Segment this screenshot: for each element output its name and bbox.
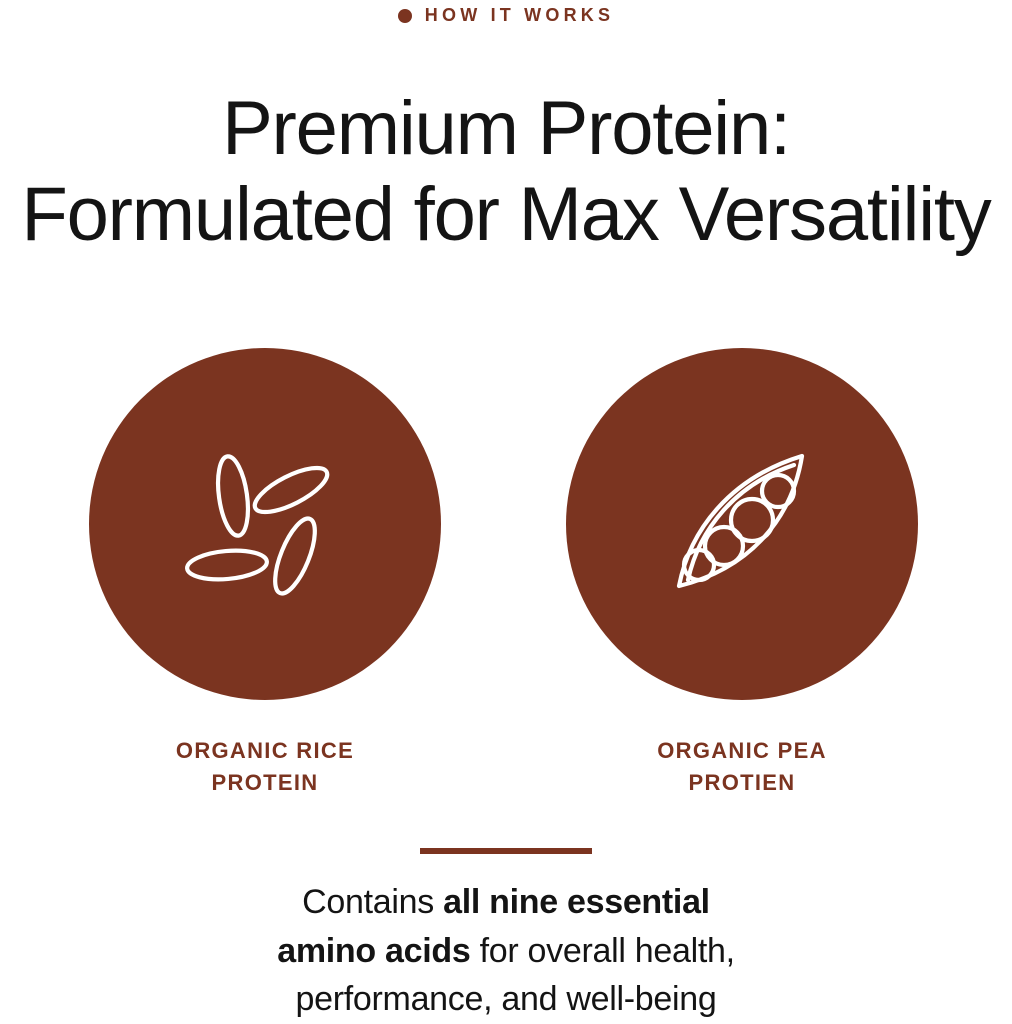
label-rice-line-2: PROTEIN — [212, 770, 319, 795]
footnote-line-1: Contains all nine essential — [0, 878, 1012, 927]
footnote-line-3: performance, and well-being — [0, 975, 1012, 1024]
label-organic-rice-protein: ORGANIC RICE PROTEIN — [89, 735, 441, 799]
label-pea-line-2: PROTIEN — [689, 770, 796, 795]
pea-pod-icon — [652, 434, 832, 614]
label-rice-line-1: ORGANIC RICE — [176, 738, 354, 763]
footnote-line-2-emphasis: amino acids — [277, 932, 470, 970]
ingredient-node-pea — [566, 348, 918, 700]
footnote-line-1-plain: Contains — [302, 883, 443, 921]
label-organic-pea-protein: ORGANIC PEA PROTIEN — [566, 735, 918, 799]
ingredient-labels: ORGANIC RICE PROTEIN ORGANIC PEA PROTIEN — [0, 735, 1012, 815]
connector-line — [420, 848, 592, 854]
footnote-line-1-emphasis: all nine essential — [443, 883, 710, 921]
rice-grains-icon — [175, 434, 355, 614]
eyebrow-banner: HOW IT WORKS — [0, 0, 1012, 30]
footnote-text: Contains all nine essential amino acids … — [0, 878, 1012, 1024]
page-title-line-1: Premium Protein: — [0, 86, 1012, 172]
ingredient-diagram — [0, 330, 1012, 730]
footnote-line-2-plain: for overall health, — [470, 932, 734, 970]
footnote-line-2: amino acids for overall health, — [0, 927, 1012, 976]
page-title: Premium Protein: Formulated for Max Vers… — [0, 86, 1012, 258]
page-title-line-2: Formulated for Max Versatility — [0, 172, 1012, 258]
ingredient-node-rice — [89, 348, 441, 700]
eyebrow-label: HOW IT WORKS — [425, 5, 614, 26]
label-pea-line-1: ORGANIC PEA — [657, 738, 827, 763]
bullet-dot-icon — [398, 9, 412, 23]
